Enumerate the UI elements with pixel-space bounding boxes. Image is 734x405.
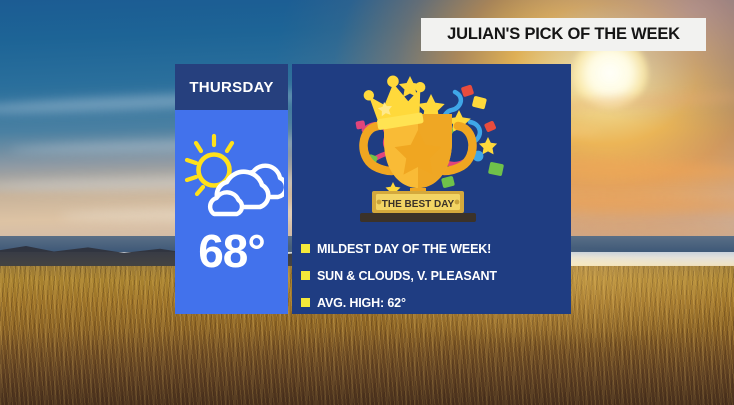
plaque-label: THE BEST DAY <box>382 199 455 210</box>
bullet-text: AVG. HIGH: 62° <box>317 296 406 310</box>
forecast-day-card: THURSDAY <box>175 64 288 314</box>
list-item: SUN & CLOUDS, V. PLEASANT <box>301 262 571 289</box>
field-shadow <box>0 330 734 405</box>
segment-title-text: JULIAN'S PICK OF THE WEEK <box>447 25 680 44</box>
highlight-panel: THE BEST DAY MILDEST DAY OF THE WEEK! SU… <box>292 64 571 314</box>
sun-behind-cloud-icon <box>180 132 284 218</box>
list-item: MILDEST DAY OF THE WEEK! <box>301 235 571 262</box>
temperature-value: 68° <box>198 228 265 274</box>
yellow-square-bullet-icon <box>301 298 310 307</box>
day-label: THURSDAY <box>189 79 273 96</box>
list-item: AVG. HIGH: 62° <box>301 289 571 316</box>
day-header: THURSDAY <box>175 64 288 110</box>
yellow-square-bullet-icon <box>301 271 310 280</box>
bullet-text: MILDEST DAY OF THE WEEK! <box>317 242 491 256</box>
segment-title-banner: JULIAN'S PICK OF THE WEEK <box>421 18 706 51</box>
yellow-square-bullet-icon <box>301 244 310 253</box>
day-body: 68° <box>175 110 288 314</box>
bullet-text: SUN & CLOUDS, V. PLEASANT <box>317 269 497 283</box>
highlight-bullet-list: MILDEST DAY OF THE WEEK! SUN & CLOUDS, V… <box>292 229 571 314</box>
trophy-icon: THE BEST DAY <box>292 64 571 229</box>
